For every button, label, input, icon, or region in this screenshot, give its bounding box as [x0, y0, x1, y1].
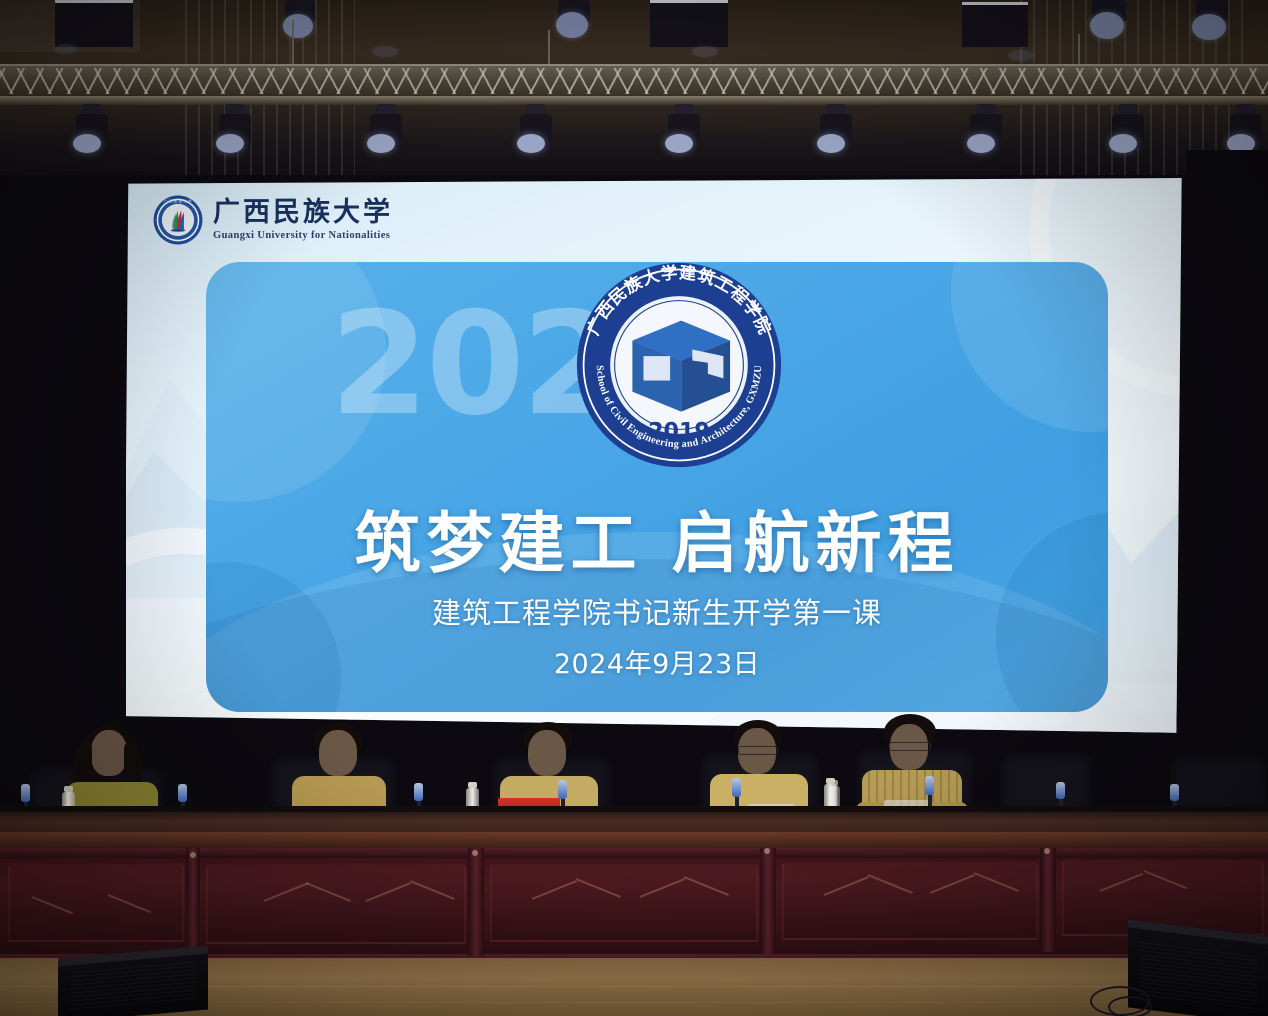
truss-lower-rail: [0, 96, 1268, 105]
stage-monitor-speaker-icon: [58, 945, 208, 1016]
ceiling-lamp-icon: [556, 12, 588, 38]
ceiling-lamp-icon: [1090, 12, 1124, 39]
projection-screen: 广 西 民 族 大 学 广西民族大学 Guangxi University fo…: [124, 178, 1187, 735]
university-name-cn: 广西民族大学: [213, 199, 393, 226]
slide-date: 2024年9月23日: [206, 642, 1108, 681]
photo-scene: 广 西 民 族 大 学 广西民族大学 Guangxi University fo…: [0, 0, 1268, 1016]
panel-section: [206, 864, 466, 944]
university-name-en: Guangxi University for Nationalities: [213, 230, 393, 241]
ceiling-lamp-icon: [1192, 14, 1226, 40]
screen-frame-right: [1186, 150, 1268, 850]
slide-card: 2024: [206, 262, 1108, 712]
ceiling-lamp-icon: [55, 0, 133, 47]
lighting-truss-icon: [0, 64, 1268, 98]
college-emblem-icon: 2019 广西民族大学建筑工程学院 School of Civil Engine…: [568, 262, 790, 481]
ceiling-lamp-icon: [650, 0, 728, 47]
slide-subtitle: 建筑工程学院书记新生开学第一课: [206, 590, 1108, 632]
university-header: 广 西 民 族 大 学 广西民族大学 Guangxi University fo…: [152, 194, 393, 246]
glasses-icon: [738, 746, 778, 755]
svg-text:广 西 民 族 大 学: 广 西 民 族 大 学: [164, 198, 192, 203]
speaker-cable: [1108, 996, 1152, 1016]
ceiling-lamp-icon: [962, 2, 1028, 47]
ceiling-lamp-icon: [283, 14, 313, 38]
university-seal-icon: 广 西 民 族 大 学: [152, 194, 204, 246]
glasses-icon: [889, 742, 931, 751]
panel-section: [490, 864, 758, 942]
slide-title: 筑梦建工 启航新程: [206, 490, 1108, 586]
panel-section: [782, 862, 1038, 940]
panel-section: [8, 864, 184, 942]
